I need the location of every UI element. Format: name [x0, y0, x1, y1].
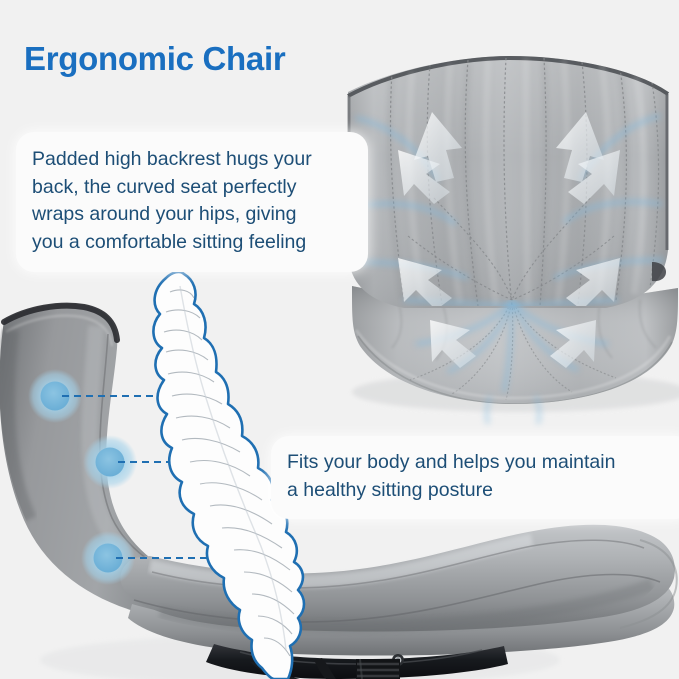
chair-backrest-front-view: [348, 56, 679, 424]
callout-card-backrest: Padded high backrest hugs your back, the…: [16, 132, 368, 272]
product-marketing-image: Ergonomic Chair Padded high backrest hug…: [0, 0, 679, 679]
callout-line: you a comfortable sitting feeling: [32, 229, 352, 257]
chair-backrest-pad: [348, 56, 668, 310]
callout-line: back, the curved seat perfectly: [32, 174, 352, 202]
callout-card-posture: Fits your body and helps you maintain a …: [271, 436, 679, 519]
product-artwork: [0, 0, 679, 679]
callout-line: a healthy sitting posture: [287, 477, 677, 505]
support-point-upper-back: [28, 369, 82, 423]
gas-cylinder: [356, 659, 400, 679]
page-title: Ergonomic Chair: [24, 40, 285, 78]
support-point-mid-back: [83, 435, 137, 489]
support-point-lumbar: [81, 531, 135, 585]
callout-line: Padded high backrest hugs your: [32, 146, 352, 174]
callout-line: wraps around your hips, giving: [32, 201, 352, 229]
callout-line: Fits your body and helps you maintain: [287, 449, 677, 477]
